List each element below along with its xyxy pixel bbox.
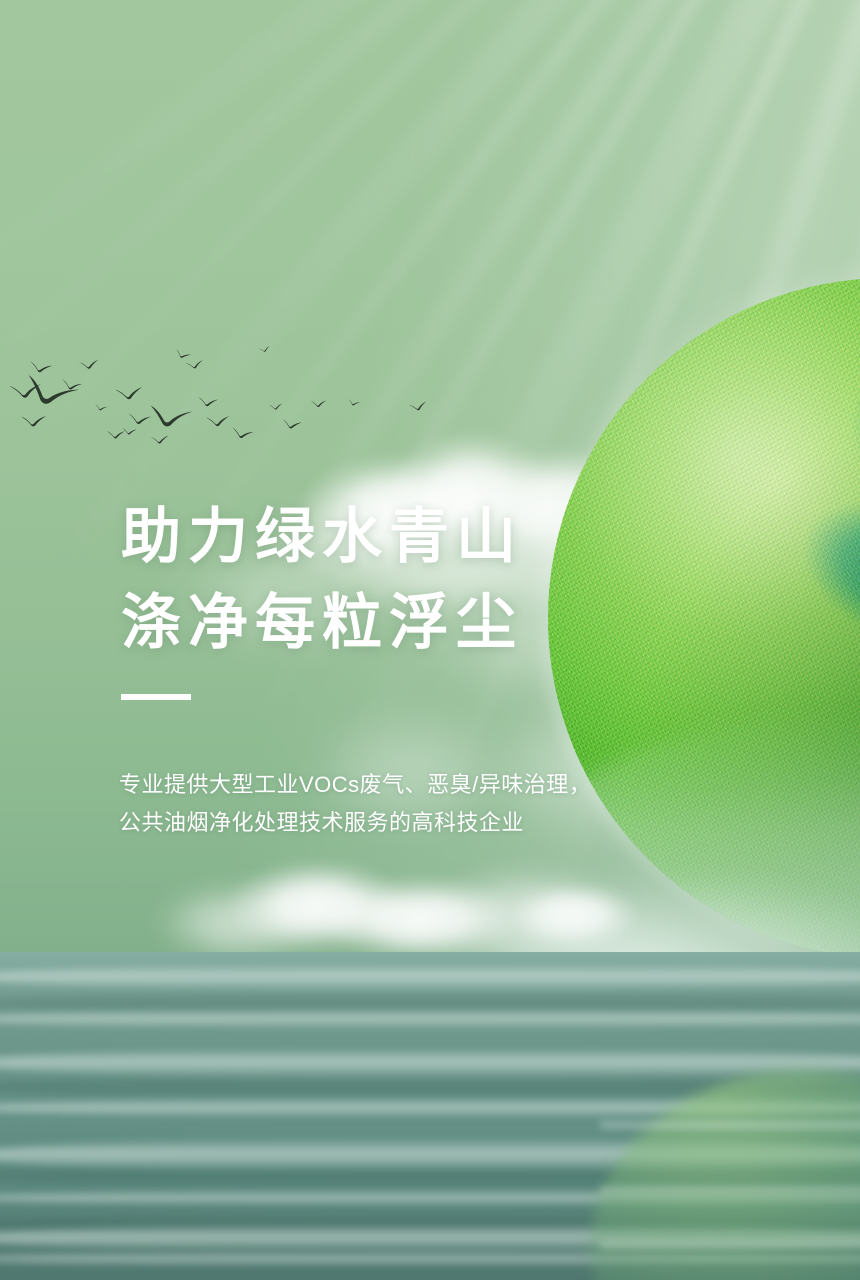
bird-24 (94, 403, 109, 412)
water-highlight-3 (0, 1048, 860, 1078)
bird-16 (174, 348, 193, 361)
bird-7 (114, 384, 145, 402)
eco-hero-poster: 助力绿水青山 涤净每粒浮尘 专业提供大型工业VOCs废气、恶臭/异味治理， 公共… (0, 0, 860, 1280)
bird-2 (28, 360, 53, 374)
water-highlight-2 (0, 1010, 860, 1028)
reflection-streak-2 (600, 1186, 860, 1194)
headline-line-2: 涤净每粒浮尘 (121, 580, 523, 666)
bird-21 (408, 399, 429, 412)
bird-10 (148, 404, 194, 430)
bird-12 (197, 396, 219, 407)
bird-19 (310, 399, 328, 408)
bird-20 (347, 398, 362, 407)
bird-23 (258, 345, 271, 354)
subtitle-line-1: 专业提供大型工业VOCs废气、恶臭/异味治理， (119, 766, 591, 804)
bird-15 (150, 434, 170, 445)
title-divider-rule (121, 694, 191, 700)
bird-17 (268, 402, 284, 411)
bird-5 (78, 357, 100, 370)
page-subtitle: 专业提供大型工业VOCs废气、恶臭/异味治理， 公共油烟净化处理技术服务的高科技… (119, 766, 591, 842)
reflection-streak-3 (600, 1240, 860, 1249)
bird-14 (230, 426, 255, 440)
bird-13 (205, 413, 231, 427)
bird-18 (281, 418, 303, 430)
bird-3 (20, 413, 48, 428)
bird-22 (122, 427, 138, 435)
page-title: 助力绿水青山 涤净每粒浮尘 (121, 494, 523, 666)
headline-line-1: 助力绿水青山 (121, 494, 523, 580)
reflection-streak-1 (600, 1120, 860, 1130)
subtitle-line-2: 公共油烟净化处理技术服务的高科技企业 (119, 804, 591, 842)
